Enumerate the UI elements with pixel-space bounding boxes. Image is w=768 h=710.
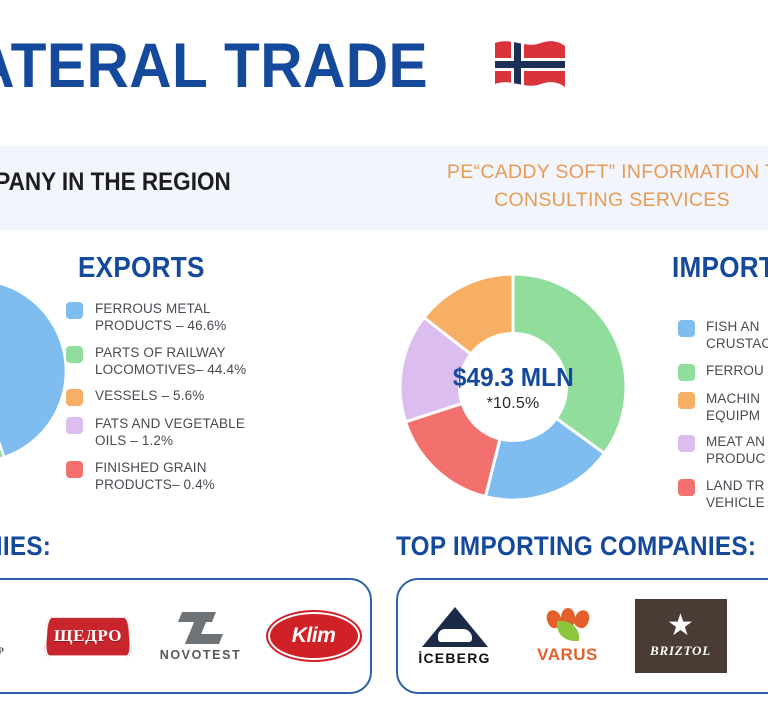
legend-item: LAND TR VEHICLE	[678, 477, 768, 512]
donut-change-value: *10.5%	[487, 395, 540, 413]
legend-label: FERROU	[706, 362, 764, 379]
legend-label: LAND TR VEHICLE	[706, 477, 765, 512]
iceberg-label: İCEBERG	[418, 650, 490, 666]
legend-label: MEAT AN PRODUC	[706, 433, 765, 468]
norway-flag-icon	[491, 37, 569, 95]
legend-swatch-meat	[678, 435, 695, 452]
legend-swatch-grain-products	[66, 461, 83, 478]
exports-heading: EXPORTS	[78, 252, 205, 285]
exports-legend: FERROUS METAL PRODUCTS – 46.6% PARTS OF …	[66, 300, 284, 493]
novotest-mark-icon	[178, 611, 224, 645]
legend-label: FERROUS METAL PRODUCTS – 46.6%	[95, 300, 226, 335]
logo-metiz-as-group[interactable]: метиз AS GROUP	[0, 597, 23, 675]
varus-flower-icon	[544, 608, 592, 644]
legend-item: VESSELS – 5.6%	[66, 387, 284, 406]
legend-item: MACHIN EQUIPM	[678, 390, 768, 425]
legend-item: FERROU	[678, 362, 768, 381]
top-importing-companies-heading: TOP IMPORTING COMPANIES:	[396, 531, 756, 562]
klim-label: Klim	[292, 624, 336, 648]
shchedro-label: ЩЕДРО	[53, 626, 122, 646]
legend-label: MACHIN EQUIPM	[706, 390, 760, 425]
group-label: GROUP	[0, 647, 5, 657]
subtitle-left-text: AN COMPANY IN THE REGION	[0, 168, 291, 197]
logo-pr-droplet[interactable]: Pr	[746, 597, 768, 675]
subtitle-right-text: PE“CADDY SOFT” INFORMATION T CONSULTING …	[392, 158, 768, 215]
legend-swatch-fish-crustaceans	[678, 320, 695, 337]
legend-label: PARTS OF RAILWAY LOCOMOTIVES– 44.4%	[95, 344, 246, 379]
legend-swatch-ferrous-metal	[66, 302, 83, 319]
importing-companies-box: İCEBERG VARUS ★ BRIZTOL Pr	[396, 578, 768, 694]
subtitle-right-line2: CONSULTING SERVICES	[392, 186, 768, 214]
top-exporting-companies-heading: MPANIES:	[0, 531, 51, 562]
legend-swatch-land-transport	[678, 479, 695, 496]
logo-novotest[interactable]: NOVOTEST	[153, 597, 249, 675]
infographic-page: LATERAL TRADE AN COMPANY IN THE REGION	[0, 0, 768, 710]
center-donut-chart: $49.3 MLN *10.5%	[398, 272, 628, 502]
legend-item: FINISHED GRAIN PRODUCTS– 0.4%	[66, 459, 284, 494]
briztol-label: BRIZTOL	[650, 643, 711, 659]
legend-item: PARTS OF RAILWAY LOCOMOTIVES– 44.4%	[66, 344, 284, 379]
exports-pie-chart	[0, 278, 68, 464]
star-icon: ★	[667, 614, 694, 638]
novotest-label: NOVOTEST	[160, 648, 242, 662]
legend-item: FERROUS METAL PRODUCTS – 46.6%	[66, 300, 284, 335]
legend-swatch-machinery	[678, 392, 695, 409]
logo-iceberg[interactable]: İCEBERG	[407, 597, 503, 675]
varus-label: VARUS	[537, 645, 598, 665]
logo-varus[interactable]: VARUS	[520, 597, 616, 675]
subtitle-right-line1: PE“CADDY SOFT” INFORMATION T	[447, 161, 768, 183]
legend-item: FATS AND VEGETABLE OILS – 1.2%	[66, 415, 284, 450]
imports-legend: FISH AN CRUSTAC FERROU MACHIN EQUIPM MEA…	[678, 318, 768, 511]
logo-klim[interactable]: Klim	[266, 597, 362, 675]
page-title: LATERAL TRADE	[0, 35, 428, 98]
legend-label: VESSELS – 5.6%	[95, 387, 204, 404]
logo-shchedro[interactable]: ЩЕДРО	[40, 597, 136, 675]
legend-swatch-fats-oils	[66, 417, 83, 434]
page-title-row: LATERAL TRADE	[0, 22, 556, 110]
donut-total-value: $49.3 MLN	[453, 362, 574, 393]
exporting-companies-box: метиз AS GROUP ЩЕДРО NOVOTEST Klim	[0, 578, 372, 694]
legend-swatch-vessels	[66, 389, 83, 406]
logo-briztol[interactable]: ★ BRIZTOL	[633, 597, 729, 675]
donut-center-label: $49.3 MLN *10.5%	[458, 332, 568, 442]
legend-item: FISH AN CRUSTAC	[678, 318, 768, 353]
legend-item: MEAT AN PRODUC	[678, 433, 768, 468]
legend-label: FINISHED GRAIN PRODUCTS– 0.4%	[95, 459, 215, 494]
iceberg-mountain-icon	[422, 607, 488, 647]
legend-label: FATS AND VEGETABLE OILS – 1.2%	[95, 415, 245, 450]
imports-heading: IMPORTS	[672, 252, 768, 285]
legend-swatch-ferrous	[678, 364, 695, 381]
legend-label: FISH AN CRUSTAC	[706, 318, 768, 353]
legend-swatch-railway-parts	[66, 346, 83, 363]
